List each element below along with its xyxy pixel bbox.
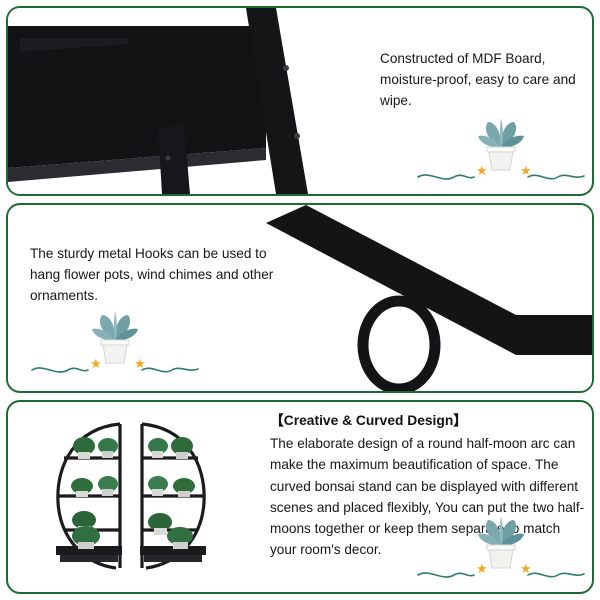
mdf-board-illustration (8, 8, 358, 194)
panel-mdf-board: Constructed of MDF Board, moisture-proof… (6, 6, 594, 196)
plant-decoration-3: ★ ★ (416, 526, 586, 588)
curved-design-heading: 【Creative & Curved Design】 (270, 410, 588, 431)
photo-curved-plant-stands (12, 406, 250, 588)
metal-hook-illustration (266, 205, 592, 391)
star-icon: ★ (476, 164, 488, 177)
star-icon: ★ (476, 562, 488, 575)
photo-metal-hook (266, 205, 592, 391)
metal-hooks-text: The sturdy metal Hooks can be used to ha… (30, 243, 280, 306)
photo-mdf-board-shelf (8, 8, 358, 194)
feature-page: Constructed of MDF Board, moisture-proof… (0, 0, 600, 600)
plant-decoration-1: ★ ★ (416, 128, 586, 190)
panel-metal-hooks: The sturdy metal Hooks can be used to ha… (6, 203, 594, 393)
star-icon: ★ (520, 562, 532, 575)
metal-hooks-text-block: The sturdy metal Hooks can be used to ha… (30, 243, 280, 306)
star-icon: ★ (90, 357, 102, 370)
panel-curved-design: 【Creative & Curved Design】 The elaborate… (6, 400, 594, 594)
star-icon: ★ (520, 164, 532, 177)
mdf-board-text: Constructed of MDF Board, moisture-proof… (380, 48, 588, 111)
mdf-board-text-block: Constructed of MDF Board, moisture-proof… (380, 48, 588, 111)
curved-stands-illustration (12, 406, 250, 588)
star-icon: ★ (134, 357, 146, 370)
plant-decoration-2: ★ ★ (30, 321, 200, 383)
